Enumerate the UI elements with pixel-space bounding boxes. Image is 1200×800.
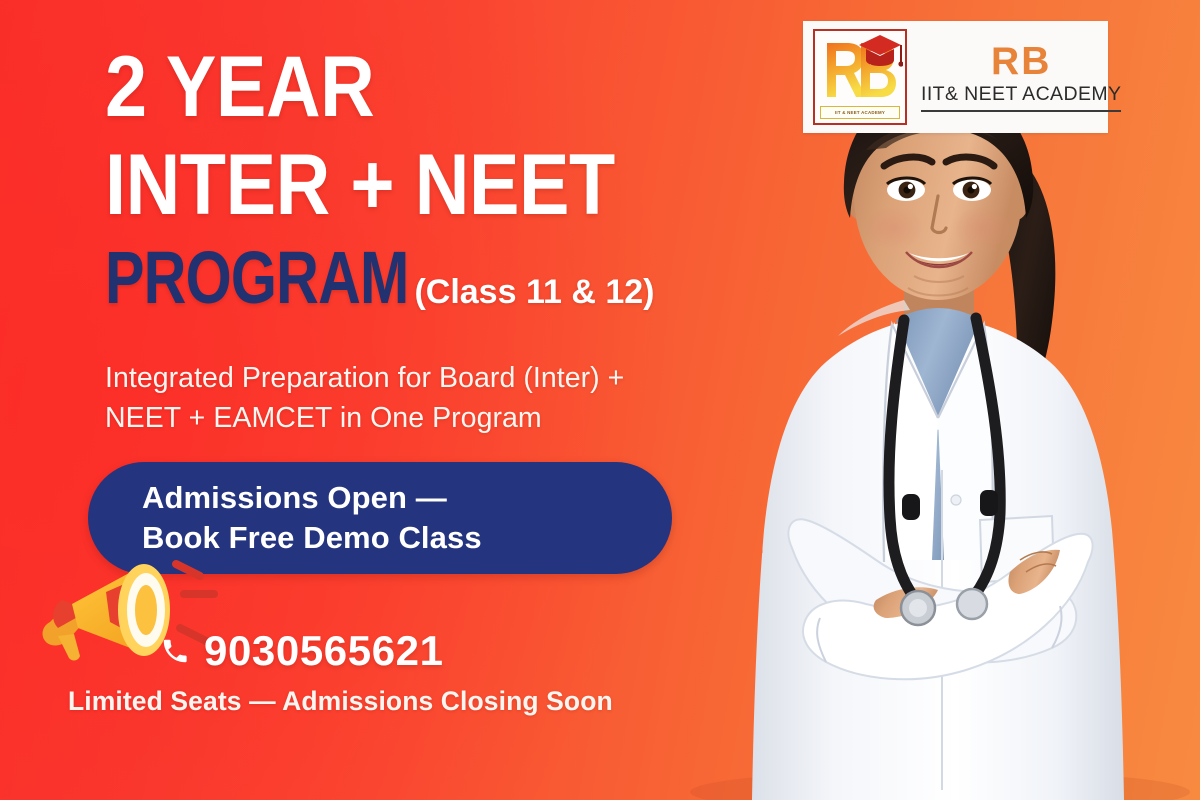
emblem-caption: IIT & NEET ACADEMY <box>820 106 900 119</box>
headline-line-1: 2 YEAR <box>105 47 615 128</box>
academy-logo[interactable]: IIT & NEET ACADEMY RB IIT& NEET ACADEMY <box>803 21 1108 133</box>
headline-line-2: INTER + NEET <box>105 145 615 226</box>
cta-line-1: Admissions Open — <box>142 478 672 518</box>
headline-class-note: (Class 11 & 12) <box>414 273 654 312</box>
emblem-caption-text: IIT & NEET ACADEMY <box>835 110 885 116</box>
logo-divider <box>921 110 1121 112</box>
subtitle-line-2: NEET + EAMCET in One Program <box>105 398 745 438</box>
graduation-cap-icon <box>857 33 903 69</box>
headline-line-3: PROGRAM <box>105 243 409 313</box>
logo-brand: RB <box>921 42 1121 81</box>
phone-handset-icon <box>160 636 190 666</box>
headline-line-3-row: PROGRAM (Class 11 & 12) <box>105 243 684 313</box>
subtitle-line-1: Integrated Preparation for Board (Inter)… <box>105 358 745 398</box>
rb-monogram-graduation-cap-emblem: IIT & NEET ACADEMY <box>813 29 907 125</box>
footer-urgency-text: Limited Seats — Admissions Closing Soon <box>68 686 613 717</box>
headline-block: 2 YEAR INTER + NEET PROGRAM (Class 11 & … <box>105 47 684 312</box>
subtitle-block: Integrated Preparation for Board (Inter)… <box>105 358 745 439</box>
promotional-banner: IIT & NEET ACADEMY RB IIT& NEET ACADEMY … <box>0 0 1200 800</box>
logo-wordmark: RB IIT& NEET ACADEMY <box>907 42 1121 111</box>
contact-phone-row[interactable]: 9030565621 <box>160 630 444 672</box>
logo-tagline: IIT& NEET ACADEMY <box>921 84 1121 104</box>
phone-number: 9030565621 <box>204 630 444 672</box>
